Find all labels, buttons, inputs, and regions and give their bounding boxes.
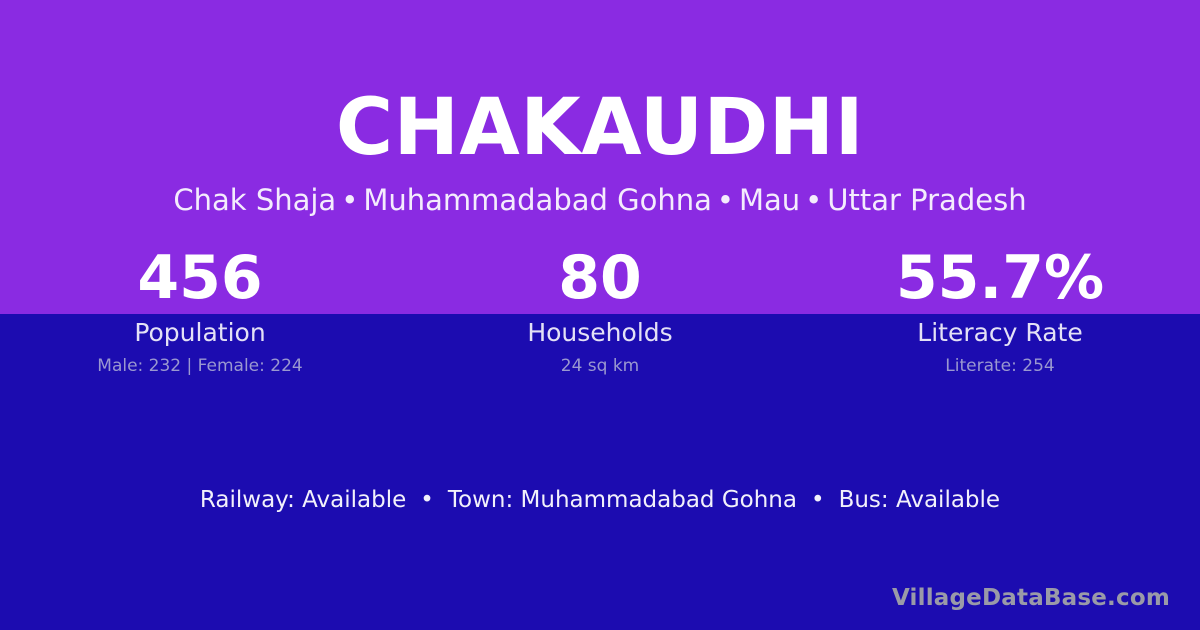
page-title: CHAKAUDHI xyxy=(0,84,1200,172)
breadcrumb-item-block: Muhammadabad Gohna xyxy=(363,183,712,217)
village-info-card: CHAKAUDHI Chak Shaja•Muhammadabad Gohna•… xyxy=(0,0,1200,630)
facility-separator-icon: • xyxy=(406,484,448,516)
stats-row: 456 Population Male: 232 | Female: 224 8… xyxy=(0,248,1200,377)
facility-separator-icon: • xyxy=(797,484,839,516)
stat-value: 80 xyxy=(400,248,800,308)
site-watermark: VillageDataBase.com xyxy=(892,584,1170,612)
breadcrumb-separator-icon: • xyxy=(800,183,827,217)
stat-label: Population xyxy=(0,318,400,348)
breadcrumb-item-district: Mau xyxy=(739,183,800,217)
breadcrumb: Chak Shaja•Muhammadabad Gohna•Mau•Uttar … xyxy=(0,182,1200,218)
stat-label: Literacy Rate xyxy=(800,318,1200,348)
facility-railway: Railway: Available xyxy=(200,487,406,513)
card-content: CHAKAUDHI Chak Shaja•Muhammadabad Gohna•… xyxy=(0,0,1200,630)
breadcrumb-separator-icon: • xyxy=(336,183,363,217)
breadcrumb-item-state: Uttar Pradesh xyxy=(827,183,1026,217)
stat-population: 456 Population Male: 232 | Female: 224 xyxy=(0,248,400,377)
facility-town: Town: Muhammadabad Gohna xyxy=(448,487,797,513)
stat-sublabel: Literate: 254 xyxy=(800,355,1200,377)
stat-households: 80 Households 24 sq km xyxy=(400,248,800,377)
stat-value: 456 xyxy=(0,248,400,308)
stat-label: Households xyxy=(400,318,800,348)
facility-bus: Bus: Available xyxy=(839,487,1001,513)
breadcrumb-separator-icon: • xyxy=(712,183,739,217)
facilities-line: Railway: Available•Town: Muhammadabad Go… xyxy=(0,484,1200,516)
stat-value: 55.7% xyxy=(800,248,1200,308)
stat-literacy-rate: 55.7% Literacy Rate Literate: 254 xyxy=(800,248,1200,377)
stat-sublabel: 24 sq km xyxy=(400,355,800,377)
breadcrumb-item-panchayat: Chak Shaja xyxy=(173,183,336,217)
stat-sublabel: Male: 232 | Female: 224 xyxy=(0,355,400,377)
